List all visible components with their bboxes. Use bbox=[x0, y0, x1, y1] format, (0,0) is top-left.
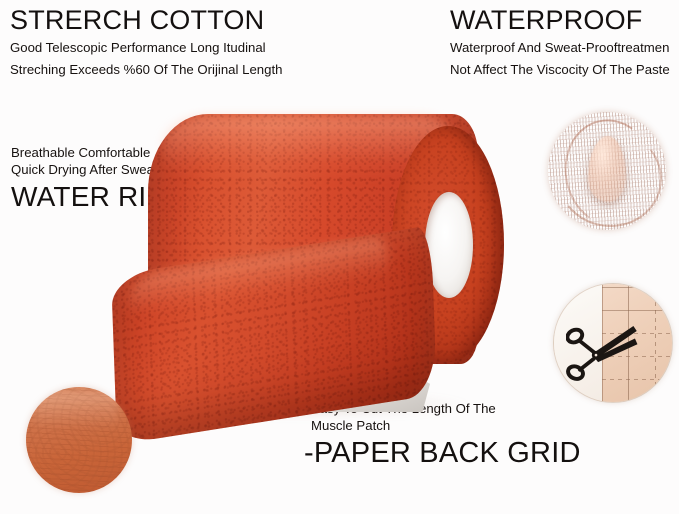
inset-waterproof-droplet bbox=[548, 112, 666, 230]
ripple-highlight bbox=[34, 391, 119, 433]
inset-scissors-cutting-grid bbox=[553, 283, 673, 403]
stretch-cotton-heading: STRERCH COTTON bbox=[10, 6, 282, 34]
stretch-cotton-line1: Good Telescopic Performance Long Itudina… bbox=[10, 39, 282, 56]
paper-back-grid-heading: -PAPER BACK GRID bbox=[304, 438, 581, 468]
waterproof-heading: WATERPROOF bbox=[450, 6, 670, 34]
feature-stretch-cotton: STRERCH COTTON Good Telescopic Performan… bbox=[10, 6, 282, 78]
waterproof-line2: Not Affect The Viscocity Of The Paste bbox=[450, 61, 670, 78]
product-infographic: STRERCH COTTON Good Telescopic Performan… bbox=[0, 0, 679, 514]
waterproof-line1: Waterproof And Sweat-Prooftreatmen bbox=[450, 39, 670, 56]
scissors-icon bbox=[566, 315, 639, 383]
stretch-cotton-line2: Streching Exceeds %60 Of The Orijinal Le… bbox=[10, 61, 282, 78]
inset-water-ripple-texture bbox=[26, 387, 132, 493]
paper-back-grid-line2: Muscle Patch bbox=[311, 417, 581, 434]
kinesiology-tape-roll-photo bbox=[120, 100, 520, 410]
feature-waterproof: WATERPROOF Waterproof And Sweat-Prooftre… bbox=[450, 6, 670, 78]
